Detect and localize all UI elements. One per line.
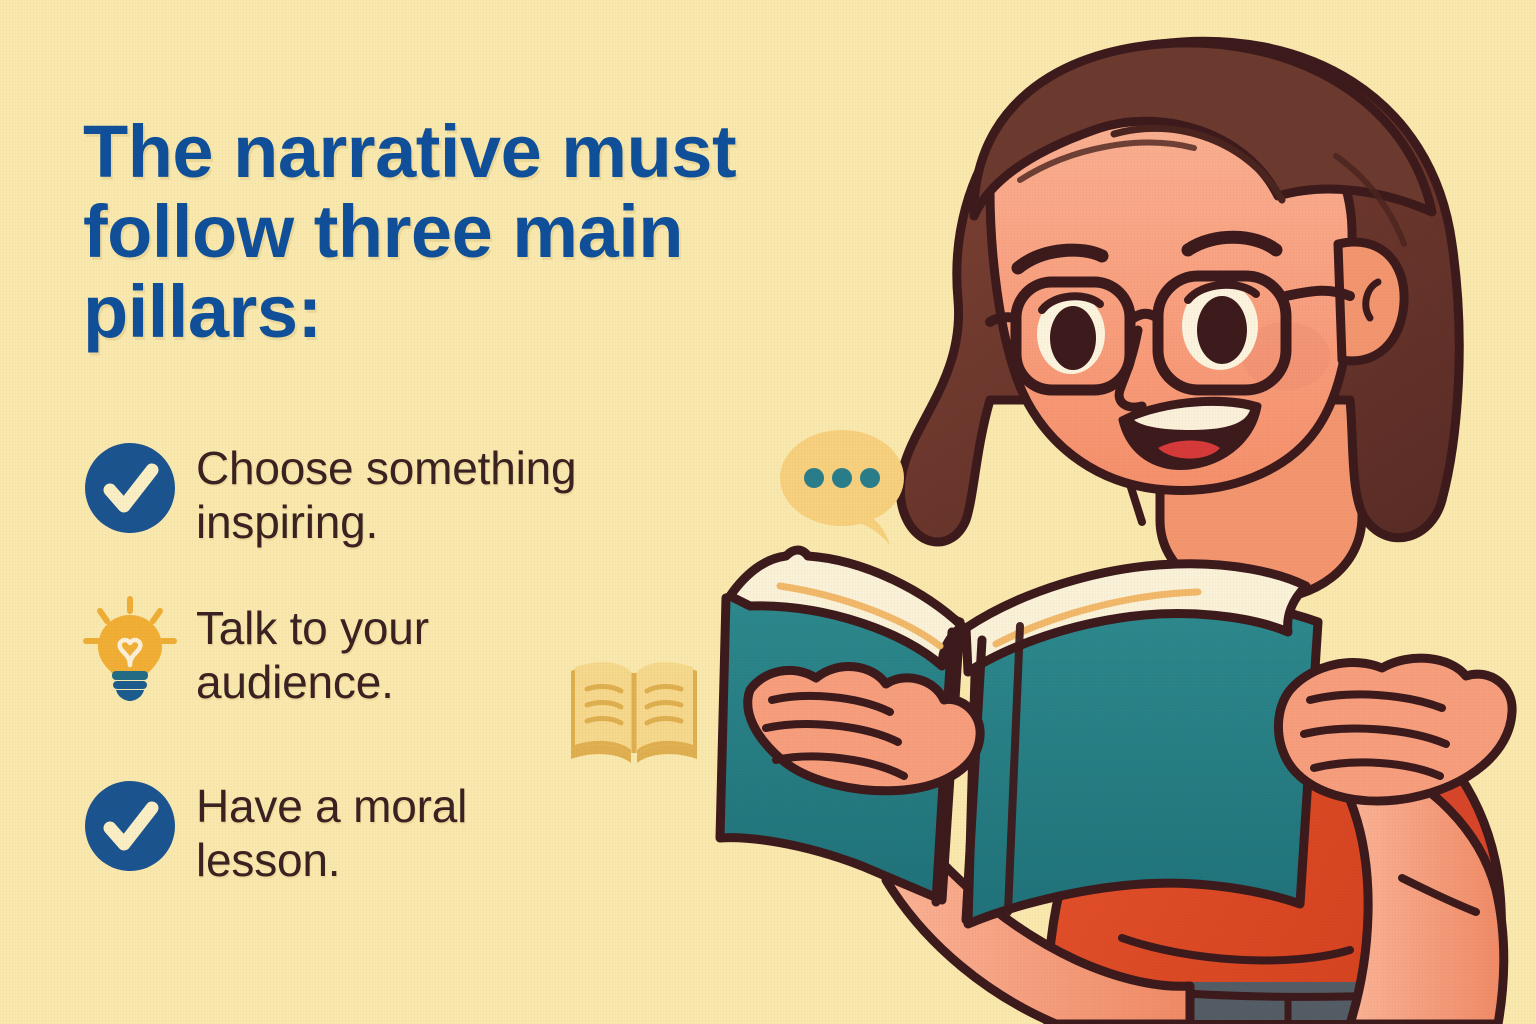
open-book-icon bbox=[565, 655, 703, 767]
list-item: Have a moral lesson. bbox=[78, 774, 738, 888]
poster-canvas: The narrative must follow three main pil… bbox=[0, 0, 1536, 1024]
right-hand bbox=[1278, 658, 1512, 801]
lightbulb-icon bbox=[78, 596, 182, 700]
check-circle-icon bbox=[78, 436, 182, 540]
list-item-label: Talk to your audience. bbox=[196, 596, 429, 710]
page-title: The narrative must follow three main pil… bbox=[83, 112, 873, 352]
list-item-label: Choose something inspiring. bbox=[196, 436, 576, 550]
check-circle-icon bbox=[78, 774, 182, 878]
list-item: Choose something inspiring. bbox=[78, 436, 738, 550]
list-item-label: Have a moral lesson. bbox=[196, 774, 467, 888]
speech-bubble-icon bbox=[778, 425, 910, 547]
ear bbox=[1338, 242, 1404, 361]
